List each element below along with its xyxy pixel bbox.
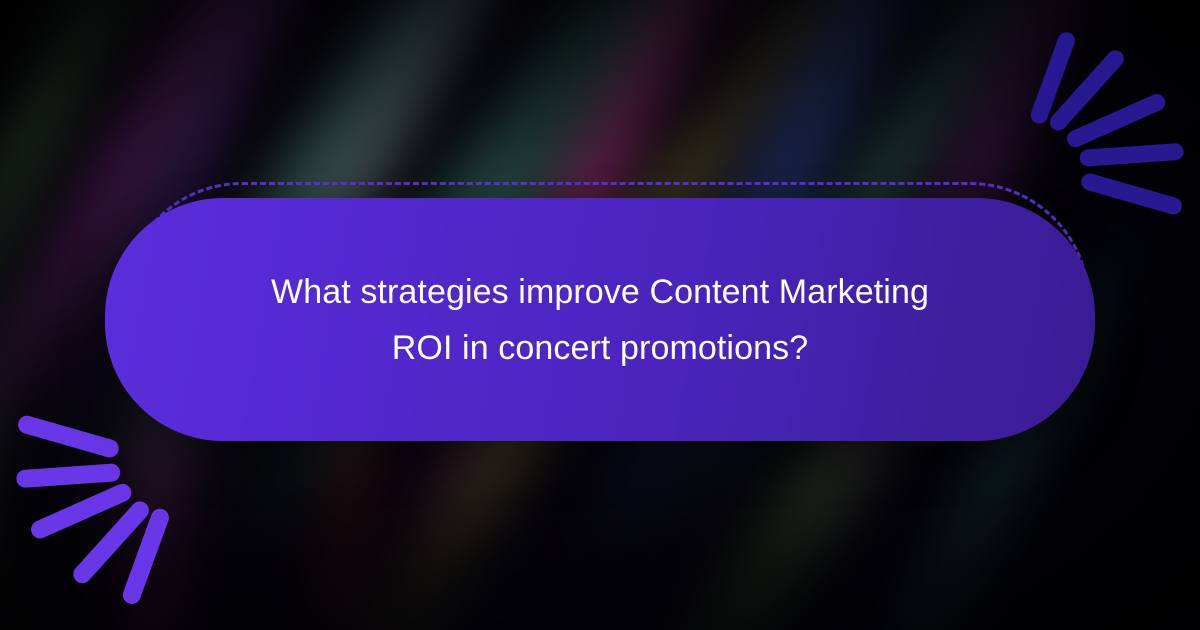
poster-canvas: What strategies improve Content Marketin… bbox=[0, 0, 1200, 630]
sunburst-bottom-left bbox=[0, 450, 190, 630]
sunburst-ray bbox=[1079, 171, 1184, 216]
sunburst-top-right bbox=[1010, 0, 1200, 180]
sunburst-ray bbox=[1079, 142, 1184, 166]
sunburst-ray bbox=[16, 414, 121, 460]
question-title: What strategies improve Content Marketin… bbox=[210, 264, 990, 376]
sunburst-ray bbox=[16, 463, 121, 488]
question-card: What strategies improve Content Marketin… bbox=[105, 198, 1095, 441]
